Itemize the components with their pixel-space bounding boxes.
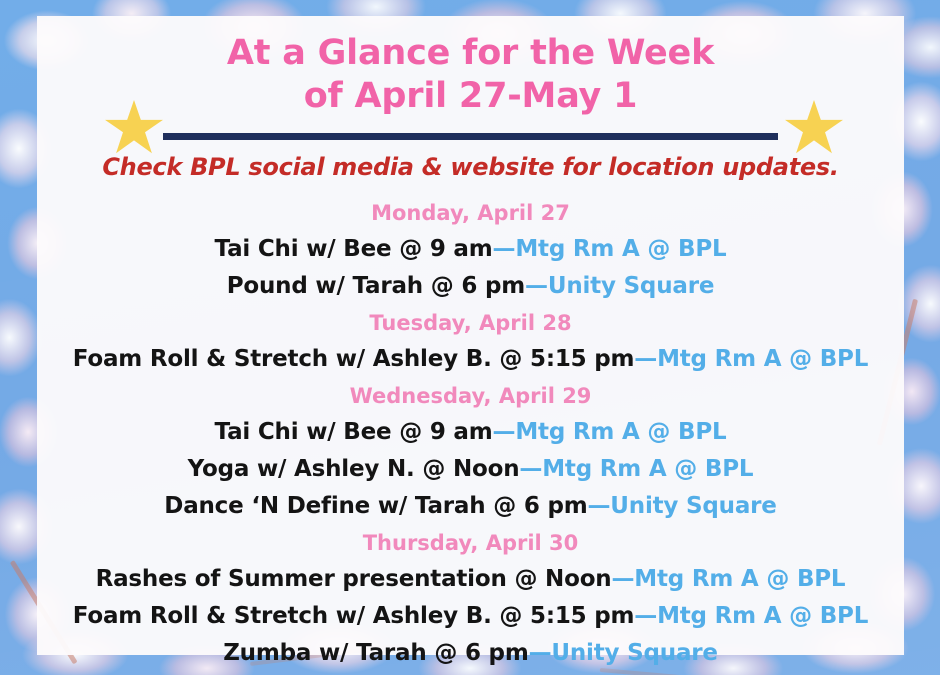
- page-title-line-1: At a Glance for the Week: [227, 33, 714, 73]
- poster-header: At a Glance for the Week of April 27-May…: [51, 16, 890, 182]
- content-card: At a Glance for the Week of April 27-May…: [37, 16, 904, 655]
- event-dash-separator: —: [611, 566, 634, 592]
- event-activity: Dance ‘N Define w/ Tarah @ 6 pm: [164, 493, 587, 519]
- event-row: Tai Chi w/ Bee @ 9 am—Mtg Rm A @ BPL: [51, 231, 890, 268]
- poster-canvas: At a Glance for the Week of April 27-May…: [0, 0, 940, 675]
- divider-rule: [163, 133, 778, 140]
- event-dash-separator: —: [525, 273, 548, 299]
- day-heading: Wednesday, April 29: [51, 378, 890, 414]
- event-activity: Zumba w/ Tarah @ 6 pm: [223, 640, 528, 666]
- event-activity: Tai Chi w/ Bee @ 9 am: [215, 419, 493, 445]
- event-row: Zumba w/ Tarah @ 6 pm—Unity Square: [51, 635, 890, 672]
- event-row: Foam Roll & Stretch w/ Ashley B. @ 5:15 …: [51, 598, 890, 635]
- event-row: Pound w/ Tarah @ 6 pm—Unity Square: [51, 268, 890, 305]
- event-activity: Tai Chi w/ Bee @ 9 am: [215, 236, 493, 262]
- event-activity: Foam Roll & Stretch w/ Ashley B. @ 5:15 …: [73, 346, 634, 372]
- day-heading: Monday, April 27: [51, 195, 890, 231]
- event-row: Tai Chi w/ Bee @ 9 am—Mtg Rm A @ BPL: [51, 414, 890, 451]
- event-activity: Pound w/ Tarah @ 6 pm: [227, 273, 525, 299]
- event-location: Mtg Rm A @ BPL: [634, 566, 845, 592]
- event-dash-separator: —: [634, 603, 657, 629]
- day-heading: Tuesday, April 28: [51, 305, 890, 341]
- event-activity: Yoga w/ Ashley N. @ Noon: [188, 456, 520, 482]
- event-location: Mtg Rm A @ BPL: [515, 236, 726, 262]
- page-title: At a Glance for the Week of April 27-May…: [51, 32, 890, 118]
- event-dash-separator: —: [529, 640, 552, 666]
- day-heading: Thursday, April 30: [51, 525, 890, 561]
- poster-subtitle: Check BPL social media & website for loc…: [51, 152, 890, 182]
- title-divider-row: [51, 120, 890, 150]
- event-dash-separator: —: [493, 236, 516, 262]
- event-location: Unity Square: [551, 640, 717, 666]
- event-row: Rashes of Summer presentation @ Noon—Mtg…: [51, 561, 890, 598]
- event-activity: Foam Roll & Stretch w/ Ashley B. @ 5:15 …: [73, 603, 634, 629]
- event-dash-separator: —: [519, 456, 542, 482]
- event-location: Unity Square: [548, 273, 714, 299]
- event-activity: Rashes of Summer presentation @ Noon: [96, 566, 612, 592]
- event-location: Unity Square: [610, 493, 776, 519]
- event-location: Mtg Rm A @ BPL: [542, 456, 753, 482]
- weekly-schedule-list: Monday, April 27Tai Chi w/ Bee @ 9 am—Mt…: [51, 195, 890, 672]
- event-dash-separator: —: [493, 419, 516, 445]
- event-dash-separator: —: [634, 346, 657, 372]
- event-location: Mtg Rm A @ BPL: [657, 346, 868, 372]
- event-row: Dance ‘N Define w/ Tarah @ 6 pm—Unity Sq…: [51, 488, 890, 525]
- event-row: Foam Roll & Stretch w/ Ashley B. @ 5:15 …: [51, 341, 890, 378]
- event-location: Mtg Rm A @ BPL: [515, 419, 726, 445]
- event-dash-separator: —: [587, 493, 610, 519]
- event-location: Mtg Rm A @ BPL: [657, 603, 868, 629]
- event-row: Yoga w/ Ashley N. @ Noon—Mtg Rm A @ BPL: [51, 451, 890, 488]
- page-title-line-2: of April 27-May 1: [51, 75, 890, 118]
